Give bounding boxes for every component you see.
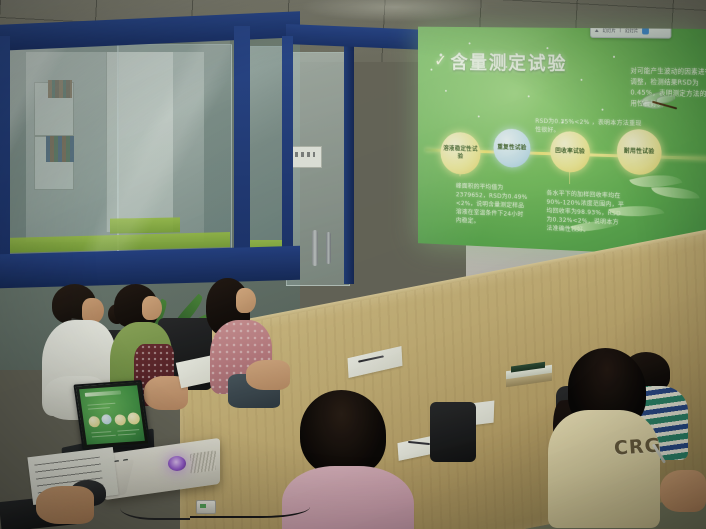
glass-panel-3	[248, 46, 284, 260]
node-stem-1	[460, 148, 461, 177]
slide-note-right: 对可能产生波动的因素进行调整，检测结果RSD为0.45%，表明测定方法的耐用性良…	[630, 66, 706, 111]
grass-icon-1	[629, 167, 682, 195]
hair	[300, 390, 386, 476]
timeline-bar	[425, 148, 706, 160]
slide-title: 含量测定试验	[450, 48, 567, 76]
chevron-down-icon[interactable]	[595, 29, 599, 32]
slide-node-3: 回收率试验	[550, 131, 590, 173]
grass-icon-2	[651, 184, 699, 201]
meeting-room-photo: ✓ 含量测定试验 对可能产生波动的因素进行调整，检测结果RSD为0.45%，表明…	[0, 0, 706, 529]
slide-node-2: 重复性试验	[493, 128, 530, 168]
door-handle-right[interactable]	[326, 232, 331, 264]
power-adapter	[196, 500, 216, 514]
door-frame	[344, 44, 354, 284]
face	[236, 288, 256, 313]
person-woman-pink-floral	[206, 278, 290, 410]
slide-node-4: 耐用性试验	[617, 129, 662, 176]
presenter-icon[interactable]	[642, 27, 649, 34]
slide-note-top: RSD为0.35%<2% ，表明本方法重现性很好。	[535, 117, 642, 137]
control-bar-label-left: 幻灯片	[602, 28, 615, 34]
person-pink-shirt	[300, 390, 432, 529]
projected-slide: ✓ 含量测定试验 对可能产生波动的因素进行调整，检测结果RSD为0.45%，表明…	[418, 27, 706, 257]
node-stem-3	[569, 151, 570, 184]
blue-column-right	[282, 36, 293, 266]
projector-vent	[190, 450, 216, 474]
blue-column-left	[0, 36, 10, 276]
dragonfly-icon	[638, 92, 679, 119]
chair-3	[430, 402, 476, 462]
ceiling-light	[300, 0, 490, 22]
grass-icon-4	[570, 214, 615, 237]
slide-note-center: 各水平下的加样回收率均在90%-120%浓度范围内，平均回收率为98.93%，R…	[546, 189, 624, 236]
face	[142, 296, 162, 320]
laptop-screen-content	[79, 385, 145, 445]
check-mark-icon: ✓	[434, 52, 447, 71]
cream-sweater	[548, 410, 660, 528]
glass-stripe-inner	[110, 217, 180, 233]
arm	[246, 360, 290, 390]
door-handle-left[interactable]	[312, 230, 318, 266]
hand-on-mouse	[36, 486, 94, 524]
person-woman-crg-sweater: CRG	[540, 348, 672, 529]
blue-column-mid	[234, 26, 250, 276]
presentation-control-bar[interactable]: 幻灯片 | 幻灯片	[590, 27, 671, 39]
grass-icon-3	[608, 200, 664, 223]
laptop-slide-title	[85, 390, 122, 396]
slide-node-1: 溶液稳定性试验	[440, 132, 480, 175]
hand-right-edge	[660, 470, 706, 512]
presenter-laptop[interactable]	[73, 380, 150, 450]
slide-note-left: 峰面积的平均值为2379652，RSD为0.49%<2%，说明含量测定样品溶液在…	[456, 182, 528, 228]
control-bar-separator: |	[620, 28, 622, 33]
projector-cable-2	[120, 496, 190, 520]
control-bar-label-right: 幻灯片	[625, 28, 638, 34]
glass-panel-1	[4, 40, 118, 260]
projector-lens	[168, 456, 186, 471]
